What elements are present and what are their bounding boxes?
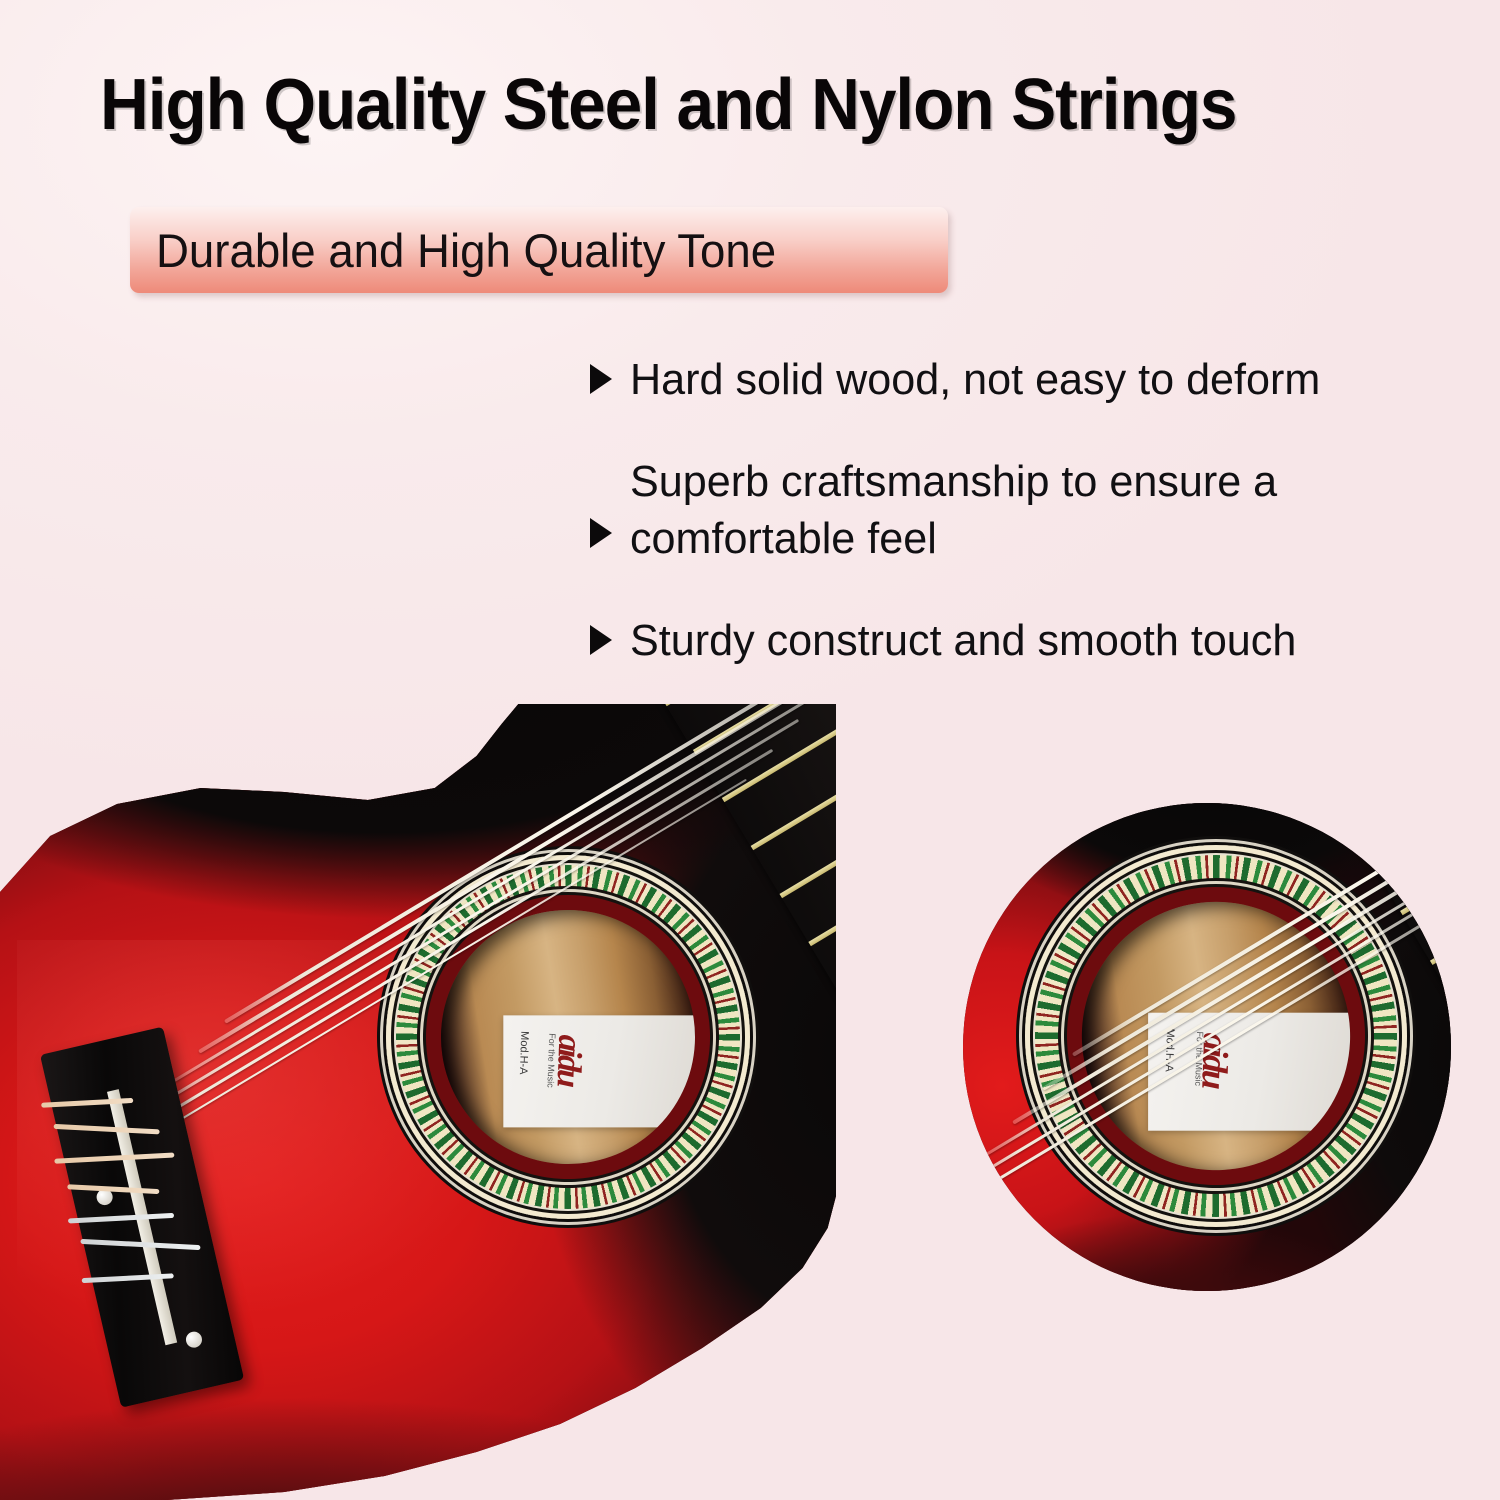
guitar-photo-inset: aidu Mod.H-A For the Music xyxy=(963,803,1451,1291)
triangle-right-icon xyxy=(590,625,612,655)
bridge-saddle xyxy=(107,1089,177,1346)
list-item-label: Hard solid wood, not easy to deform xyxy=(630,352,1320,408)
guitar-fret xyxy=(722,700,836,802)
inset-model-text: Mod.H-A xyxy=(1163,1029,1177,1073)
feature-list: Hard solid wood, not easy to deform Supe… xyxy=(590,352,1480,715)
triangle-right-icon xyxy=(590,364,612,394)
subtitle-badge-label: Durable and High Quality Tone xyxy=(156,223,776,278)
product-feature-banner: High Quality Steel and Nylon Strings Dur… xyxy=(0,0,1500,1500)
list-item: Superb craftsmanship to ensure a comfort… xyxy=(590,454,1480,567)
subtitle-badge: Durable and High Quality Tone xyxy=(130,207,948,293)
bridge-pin xyxy=(185,1330,204,1349)
list-item: Hard solid wood, not easy to deform xyxy=(590,352,1480,408)
triangle-right-icon xyxy=(590,518,612,548)
list-item-label: Superb craftsmanship to ensure a comfort… xyxy=(630,454,1463,567)
inset-guitar-label: aidu Mod.H-A For the Music xyxy=(1148,1013,1351,1131)
list-item: Sturdy construct and smooth touch xyxy=(590,613,1480,669)
bridge-pin xyxy=(95,1187,114,1206)
inset-tagline-text: For the Music xyxy=(1193,1031,1205,1086)
guitar-fret xyxy=(1340,803,1451,816)
guitar-label: aidu Mod.H-A For the Music xyxy=(504,1015,698,1127)
guitar-fret xyxy=(1370,803,1451,866)
guitar-photo-main: aidu Mod.H-A For the Music xyxy=(0,700,836,1500)
model-text: Mod.H-A xyxy=(517,1030,531,1074)
page-title: High Quality Steel and Nylon Strings xyxy=(100,68,1350,143)
list-item-label: Sturdy construct and smooth touch xyxy=(630,613,1296,669)
